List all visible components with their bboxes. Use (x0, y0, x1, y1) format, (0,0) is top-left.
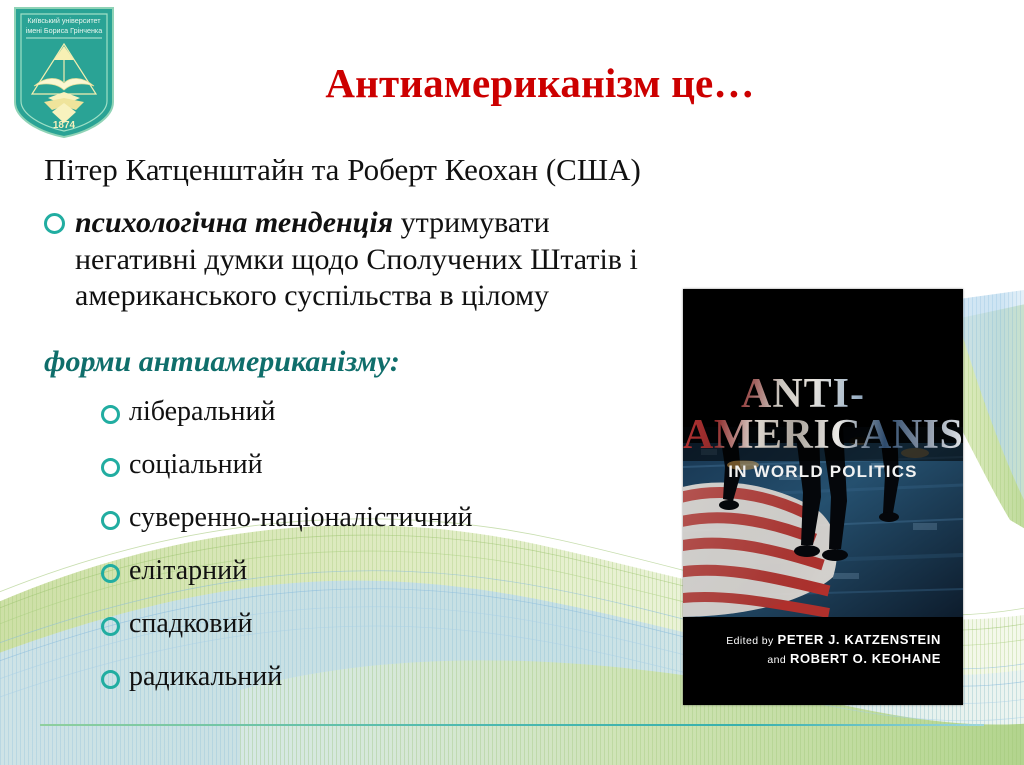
ring-bullet-icon (101, 458, 120, 477)
book-credits-group: Edited by PETER J. KATZENSTEIN and ROBER… (683, 630, 963, 670)
authors-line: Пітер Катценштайн та Роберт Кеохан (США) (44, 152, 641, 189)
list-item: спадковий (101, 610, 661, 663)
list-item-label: спадковий (129, 610, 252, 638)
list-item-label: соціальний (129, 451, 263, 479)
ring-bullet-icon (101, 670, 120, 689)
book-subtitle: IN WORLD POLITICS (683, 462, 963, 482)
forms-list: ліберальний соціальний суверенно-націона… (101, 398, 661, 716)
definition-block: психологічна тенденція утримувати негати… (44, 205, 674, 315)
book-editor-1: PETER J. KATZENSTEIN (778, 632, 941, 647)
book-cover-image: ANTI- AMERICANISMS IN WORLD POLITICS Edi… (683, 289, 963, 705)
list-item: радикальний (101, 663, 661, 716)
list-item: суверенно-націоналістичний (101, 504, 661, 557)
definition-text: психологічна тенденція утримувати негати… (75, 205, 674, 315)
book-credit-conjunction: and (767, 654, 786, 666)
book-credit-line2: and ROBERT O. KEOHANE (683, 649, 941, 669)
list-item: елітарний (101, 557, 661, 610)
forms-heading: форми антиамериканізму: (44, 345, 400, 379)
book-title-line2: AMERICANISMS (683, 415, 963, 456)
list-item: соціальний (101, 451, 661, 504)
list-item: ліберальний (101, 398, 661, 451)
ring-bullet-icon (101, 564, 120, 583)
book-title-line1: ANTI- (741, 375, 963, 415)
list-item-label: ліберальний (129, 398, 275, 426)
ring-bullet-icon (101, 405, 120, 424)
book-editor-2: ROBERT O. KEOHANE (790, 651, 941, 666)
book-credit-line1: Edited by PETER J. KATZENSTEIN (683, 630, 941, 650)
definition-bullet-row: психологічна тенденція утримувати негати… (44, 205, 674, 315)
definition-emphasis: психологічна тенденція (75, 206, 393, 239)
list-item-label: елітарний (129, 557, 247, 585)
ring-bullet-icon (101, 511, 120, 530)
ring-bullet-icon (44, 213, 65, 234)
book-title-group: ANTI- AMERICANISMS IN WORLD POLITICS (683, 375, 963, 482)
list-item-label: радикальний (129, 663, 282, 691)
ring-bullet-icon (101, 617, 120, 636)
slide: Київський університет імені Бориса Грінч… (0, 0, 1024, 765)
list-item-label: суверенно-націоналістичний (129, 504, 473, 532)
book-credit-prefix: Edited by (726, 635, 773, 647)
